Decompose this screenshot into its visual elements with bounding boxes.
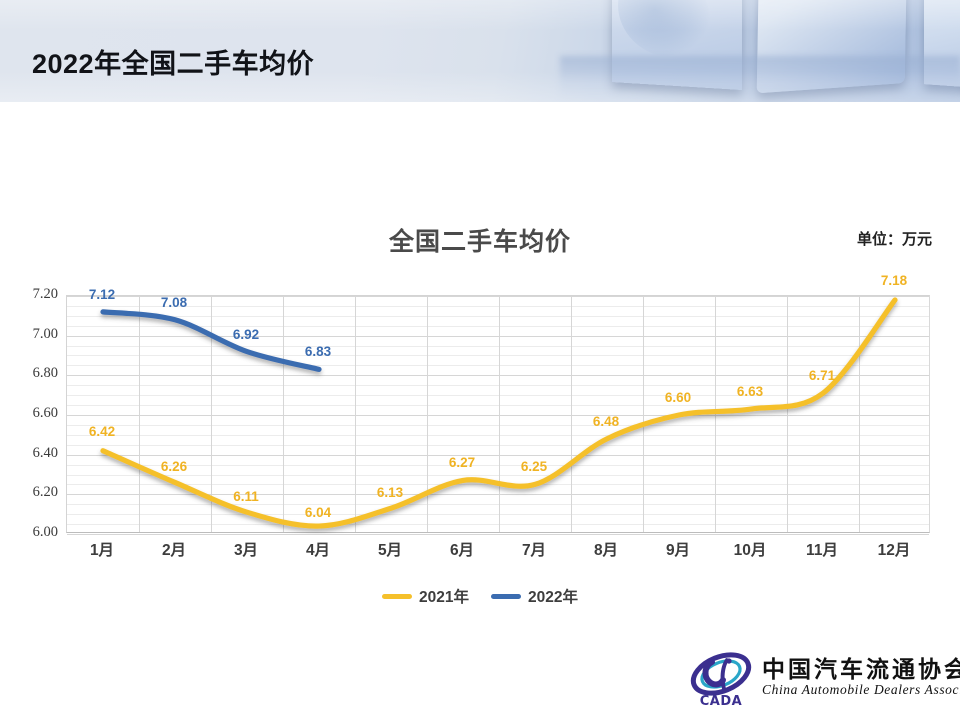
data-label-2021-8月: 6.48 <box>593 414 619 429</box>
data-label-2021-9月: 6.60 <box>665 390 691 405</box>
series-lines <box>67 296 931 534</box>
x-axis-tick-label: 1月 <box>90 538 114 560</box>
x-axis-tick-label: 12月 <box>878 538 911 560</box>
y-axis-tick-label: 6.80 <box>6 365 58 382</box>
data-label-2021-4月: 6.04 <box>305 505 331 520</box>
x-axis-tick-label: 2月 <box>162 538 186 560</box>
data-label-2022-2月: 7.08 <box>161 295 187 310</box>
chart-plot-area: 6.006.206.406.606.807.007.20 1月2月3月4月5月6… <box>0 280 960 580</box>
slide-title: 2022年全国二手车均价 <box>32 42 314 81</box>
legend-label: 2021年 <box>419 585 469 607</box>
legend-swatch-icon <box>491 594 521 599</box>
y-axis-tick-label: 6.60 <box>6 405 58 422</box>
chart-unit-label: 单位：万元 <box>857 228 932 249</box>
x-axis-tick-label: 7月 <box>522 538 546 560</box>
y-axis-tick-label: 7.00 <box>6 326 58 343</box>
data-label-2022-1月: 7.12 <box>89 287 115 302</box>
y-axis: 6.006.206.406.606.807.007.20 <box>0 295 58 533</box>
data-label-2021-1月: 6.42 <box>89 424 115 439</box>
header-floor-shadow <box>560 56 960 102</box>
series-line-2021 <box>103 300 895 526</box>
legend-item-2021[interactable]: 2021年 <box>382 585 469 607</box>
data-label-2021-2月: 6.26 <box>161 459 187 474</box>
y-axis-tick-label: 6.40 <box>6 445 58 462</box>
x-axis-tick-label: 10月 <box>734 538 767 560</box>
x-axis-tick-label: 6月 <box>450 538 474 560</box>
cada-emblem-icon: CADA <box>690 650 752 708</box>
gridline-major <box>67 534 929 535</box>
data-label-2022-4月: 6.83 <box>305 344 331 359</box>
logo-name-en: China Automobile Dealers Association <box>762 682 960 698</box>
legend-label: 2022年 <box>528 585 578 607</box>
data-label-2021-5月: 6.13 <box>377 485 403 500</box>
x-axis-tick-label: 4月 <box>306 538 330 560</box>
data-label-2021-7月: 6.25 <box>521 459 547 474</box>
x-axis-tick-label: 3月 <box>234 538 258 560</box>
x-axis-tick-label: 8月 <box>594 538 618 560</box>
y-axis-tick-label: 7.20 <box>6 286 58 303</box>
data-label-2021-12月: 7.18 <box>881 273 907 288</box>
plot-frame <box>66 295 930 533</box>
svg-text:CADA: CADA <box>700 694 742 708</box>
data-label-2021-3月: 6.11 <box>233 489 259 504</box>
slide-canvas: 2022年全国二手车均价 全国二手车均价 单位：万元 6.006.206.406… <box>0 0 960 720</box>
series-line-2022 <box>103 312 319 370</box>
data-label-2021-10月: 6.63 <box>737 384 763 399</box>
chart-title: 全国二手车均价 <box>0 222 960 258</box>
chart-legend: 2021年2022年 <box>0 585 960 607</box>
cada-logo: CADA 中国汽车流通协会 China Automobile Dealers A… <box>690 648 940 710</box>
logo-name-cn: 中国汽车流通协会 <box>762 650 960 684</box>
x-axis-tick-label: 5月 <box>378 538 402 560</box>
x-axis-tick-label: 11月 <box>806 538 838 560</box>
y-axis-tick-label: 6.00 <box>6 524 58 541</box>
data-label-2021-6月: 6.27 <box>449 455 475 470</box>
data-label-2022-3月: 6.92 <box>233 327 259 342</box>
legend-item-2022[interactable]: 2022年 <box>491 585 578 607</box>
x-axis: 1月2月3月4月5月6月7月8月9月10月11月12月 <box>66 538 930 568</box>
legend-swatch-icon <box>382 594 412 599</box>
y-axis-tick-label: 6.20 <box>6 484 58 501</box>
x-axis-tick-label: 9月 <box>666 538 690 560</box>
data-label-2021-11月: 6.71 <box>809 368 835 383</box>
